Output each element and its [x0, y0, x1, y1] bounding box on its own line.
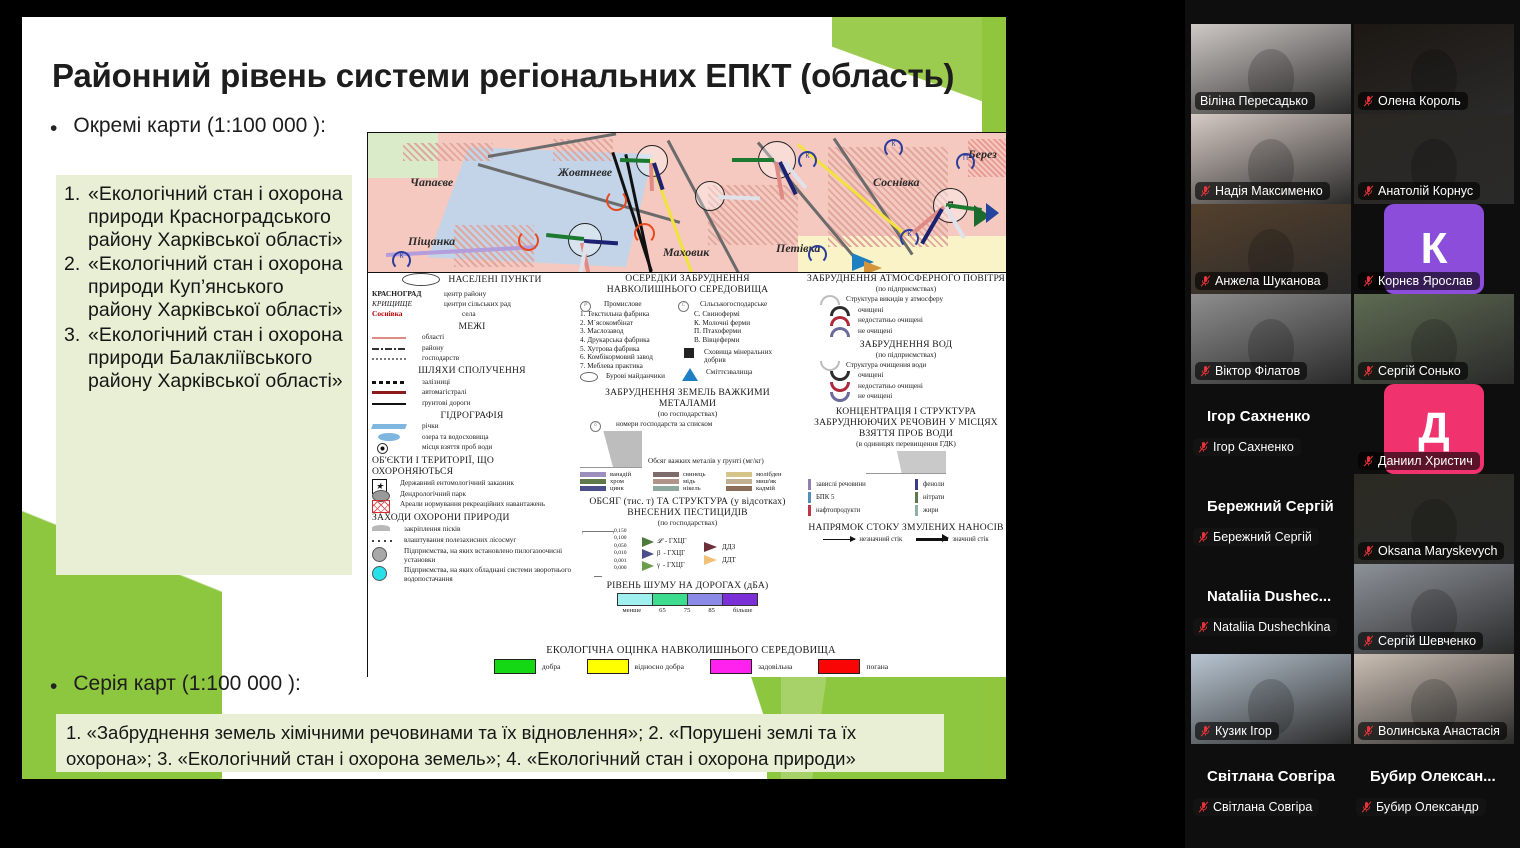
bullet-marker-icon: • — [50, 672, 57, 697]
eco-label: погана — [866, 662, 888, 671]
map-blue-marker: С — [808, 245, 827, 264]
microphone-muted-icon — [1200, 365, 1211, 377]
bullet-map-series: • Серія карт (1:100 000 ): — [50, 672, 301, 697]
participant-name-chip: Віктор Філатов — [1195, 362, 1307, 380]
participant-name-chip: Волинська Анастасія — [1358, 722, 1507, 740]
pesticide-scale-value: 0,100 — [614, 535, 627, 542]
meeting-screen: Районний рівень системи регіональних ЕПК… — [0, 0, 1520, 848]
participant-name-chip: Сергій Шевченко — [1358, 632, 1483, 650]
pesticide-scale-value: 0,010 — [614, 550, 627, 557]
legend-metal-name: мідь — [683, 478, 695, 485]
map-place-label: Соснівка — [873, 175, 920, 190]
legend-agro-item: П. Птахоферми — [678, 327, 795, 336]
legend-water-item: не очищені — [858, 392, 892, 401]
legend-hydro-item: озера та водосховища — [422, 433, 489, 442]
legend-value: центр району — [444, 289, 486, 299]
noise-scale-label: 75 — [684, 607, 691, 614]
legend-pesticides-sub: (по господарствах) — [580, 518, 795, 527]
legend-heading-roads: ШЛЯХИ СПОЛУЧЕННЯ — [372, 365, 572, 376]
legend-conc-item: нітрати — [923, 494, 944, 501]
legend-heading-borders: МЕЖІ — [372, 321, 572, 332]
legend-conc-item: феноли — [923, 481, 944, 488]
eco-label: добра — [542, 662, 561, 671]
participant-name-chip: Надія Максименко — [1195, 182, 1330, 200]
pesticide-item: - ГХЦГ — [663, 562, 685, 569]
pesticide-item: - ГХЦГ — [665, 538, 687, 545]
list-item: 3.«Екологічний стан і охорона природи Ба… — [64, 324, 346, 392]
legend-metal-name: кадмій — [756, 485, 775, 492]
participant-name-chip: Сергій Сонько — [1358, 362, 1468, 380]
participant-name: Віктор Філатов — [1215, 364, 1300, 378]
legend-heavy-metals-sub: (по господарствах) — [580, 409, 795, 418]
pesticide-scale-value: 0,050 — [614, 543, 627, 550]
pesticide-item: ДДТ — [722, 556, 736, 564]
participant-tile[interactable]: Сергій Сонько — [1354, 294, 1514, 384]
legend-key: Соснівка — [372, 309, 444, 319]
legend-measure-item: закріплення пісків — [404, 525, 460, 534]
participant-name: Даниил Христич — [1378, 454, 1473, 468]
microphone-muted-icon — [1200, 725, 1211, 737]
participant-tile[interactable]: Сергій Шевченко — [1354, 564, 1514, 654]
participant-name: Ігор Сахненко — [1213, 440, 1294, 454]
legend-industrial-item: 2. М`ясокомбінат — [580, 319, 672, 328]
legend-road-item: залізниці — [422, 378, 450, 387]
map-blue-marker: К — [884, 139, 903, 158]
legend-hydro-item: місця взяття проб води — [422, 443, 492, 452]
participant-name: Сергій Сонько — [1378, 364, 1461, 378]
participant-tile[interactable]: Надія Максименко — [1191, 114, 1351, 204]
participant-name-chip: Бережний Сергій — [1193, 528, 1319, 546]
participant-name-chip: Корнєв Ярослав — [1358, 272, 1480, 290]
legend-metal-name: нікель — [683, 485, 701, 492]
map-place-label: Піщанка — [408, 234, 455, 249]
eco-label: задовільна — [758, 662, 792, 671]
legend-water-sub: (по підприємствах) — [800, 350, 1006, 359]
bullet-map-series-label: Серія карт (1:100 000 ): — [73, 672, 300, 696]
legend-agro-item: В. Вівцеферми — [678, 336, 795, 345]
legend-metal-name: свинець — [683, 471, 706, 478]
participant-name-large: Світлана Совгіра — [1207, 768, 1335, 785]
legend-conc-item: БПК 5 — [816, 494, 834, 501]
legend-road-item: ґрунтові дороги — [422, 399, 471, 408]
legend-border-item: господарств — [422, 354, 459, 363]
legend-conc-item: жири — [923, 507, 938, 514]
legend-runoff-item: незначний стік — [859, 536, 902, 543]
map-wedge — [986, 203, 999, 223]
list-item-text: «Екологічний стан і охорона природи Крас… — [88, 183, 346, 251]
legend-air-sub: (по підприємствах) — [800, 284, 1006, 293]
legend-industrial-item: 6. Комбікормовий завод — [580, 353, 672, 362]
map-blue-marker: К — [392, 251, 411, 270]
presentation-slide: Районний рівень системи регіональних ЕПК… — [22, 17, 1006, 779]
microphone-muted-icon — [1363, 635, 1374, 647]
legend-conc-item: завислі речовини — [816, 481, 866, 488]
legend-heading-pesticides: ОБСЯГ (тис. т) ТА СТРУКТУРА (у відсотках… — [580, 496, 795, 518]
legend-hydro-item: річки — [422, 422, 439, 431]
list-item-number: 1. — [64, 183, 88, 251]
participant-tile[interactable]: Віктор Філатов — [1191, 294, 1351, 384]
microphone-muted-icon — [1198, 441, 1209, 453]
participant-name: Кузик Ігор — [1215, 724, 1272, 738]
map-legend: НАСЕЛЕНІ ПУНКТИ КРАСНОГРАДцентр району К… — [368, 273, 1006, 677]
map-orange-marker — [606, 190, 627, 211]
list-item-text: «Екологічний стан і охорона природи Куп’… — [88, 253, 346, 321]
legend-metal-name: хром — [610, 478, 624, 485]
microphone-muted-icon — [1363, 275, 1374, 287]
participant-name: Oksana Maryskevych — [1378, 544, 1497, 558]
map-series-listbox: 1. «Забруднення земель хімічними речовин… — [56, 714, 944, 772]
legend-protected-item: Ареали нормування рекреаційних навантаже… — [400, 500, 545, 509]
participant-name: Сергій Шевченко — [1378, 634, 1476, 648]
legend-heading-air: ЗАБРУДНЕННЯ АТМОСФЕРНОГО ПОВІТРЯ — [800, 273, 1006, 284]
participant-name-chip: Oksana Maryskevych — [1358, 542, 1504, 560]
legend-heading-settlements: НАСЕЛЕНІ ПУНКТИ — [448, 274, 541, 285]
participant-tile[interactable]: ДДаниил Христич — [1354, 384, 1514, 474]
legend-metal-name: миш'як — [756, 478, 776, 485]
participant-name: Волинська Анастасія — [1378, 724, 1500, 738]
participant-name: Світлана Совгіра — [1213, 800, 1312, 814]
participant-tile[interactable]: Анатолій Корнус — [1354, 114, 1514, 204]
legend-heading-measures: ЗАХОДИ ОХОРОНИ ПРИРОДИ — [372, 512, 572, 523]
pesticide-scale-value: 0,001 — [614, 558, 627, 565]
legend-water-item: недостатньо очищені — [858, 382, 923, 391]
map-blue-marker: К — [798, 151, 817, 170]
participant-tile[interactable]: Анжела Шуканова — [1191, 204, 1351, 294]
bullet-separate-maps-label: Окремі карти (1:100 000 ): — [73, 114, 326, 138]
legend-measure-item: Підприємства, на яких обладнані системи … — [404, 566, 572, 583]
legend-runoff-item: значний стік — [952, 536, 988, 543]
legend-industrial-label: Промислове — [604, 300, 642, 309]
map-series-line-2: охорона»; 3. «Екологічний стан і охорона… — [66, 746, 934, 772]
legend-air-structure: Структура викидів у атмосферу — [846, 295, 943, 304]
participant-name-chip: Nataliia Dushechkina — [1193, 618, 1337, 636]
participant-name-large: Ігор Сахненко — [1207, 408, 1310, 425]
legend-industrial-item: 1. Текстильна фабрика — [580, 310, 672, 319]
legend-value: села — [444, 309, 476, 319]
legend-key: КРИЩИЩЕ — [372, 299, 444, 309]
legend-industrial-item: 5. Хутрова фабрика — [580, 345, 672, 354]
participant-name-large: Бережний Сергій — [1207, 498, 1334, 515]
noise-scale-label: 85 — [708, 607, 715, 614]
microphone-muted-icon — [1363, 95, 1374, 107]
map-canvas: Чапаєве Жовтневе Піщанка Маховик Петівка… — [368, 133, 1006, 273]
participant-name-chip: Олена Король — [1358, 92, 1468, 110]
map-orange-marker — [634, 223, 655, 244]
participant-tile[interactable]: Олена Король — [1354, 24, 1514, 114]
list-item-number: 2. — [64, 253, 88, 321]
list-item: 2.«Екологічний стан і охорона природи Ку… — [64, 253, 346, 321]
legend-protected-item: Дендрологічний парк — [400, 490, 466, 499]
participant-name: Корнєв Ярослав — [1378, 274, 1473, 288]
legend-measure-item: Підприємства, на яких встановлено пилога… — [404, 547, 572, 564]
participant-name: Надія Максименко — [1215, 184, 1323, 198]
map-hatch-area — [403, 143, 493, 161]
legend-water-item: очищені — [858, 371, 883, 380]
legend-heading-pollution-sources: ОСЕРЕДКИ ЗАБРУДНЕННЯ НАВКОЛИШНЬОГО СЕРЕД… — [580, 273, 795, 295]
legend-fertilizer-label: Сховища мінеральних добрив — [704, 348, 795, 365]
legend-metals-volume: Обсяг важких металів у ґрунті (мг/кг) — [648, 457, 764, 468]
legend-agro-item: С. Свинофермі — [678, 310, 795, 319]
legend-heading-noise: РІВЕНЬ ШУМУ НА ДОРОГАХ (дБА) — [580, 580, 795, 591]
microphone-muted-icon — [1363, 545, 1374, 557]
legend-heading-concentration: КОНЦЕНТРАЦІЯ І СТРУКТУРА ЗАБРУДНЮЮЧИХ РЕ… — [800, 406, 1006, 439]
map-wedge — [864, 261, 882, 273]
eco-label: відносно добра — [635, 662, 684, 671]
pesticide-scale-value: 0,150 — [614, 528, 627, 535]
legend-measure-item: влаштування полезахисних лісосмуг — [404, 536, 516, 545]
legend-protected-item: Державний ентомологічний заказник — [400, 479, 514, 488]
participant-tile[interactable]: Віліна Пересадько — [1191, 24, 1351, 114]
legend-heading-runoff: НАПРЯМОК СТОКУ ЗМУЛЕНИХ НАНОСІВ — [800, 522, 1006, 533]
noise-scale-label: більше — [733, 607, 753, 614]
legend-air-item: недостатньо очищені — [858, 316, 923, 325]
participant-name-chip: Анатолій Корнус — [1358, 182, 1480, 200]
participant-name: Бережний Сергій — [1213, 530, 1312, 544]
participant-tile[interactable]: ККорнєв Ярослав — [1354, 204, 1514, 294]
participant-name: Анжела Шуканова — [1215, 274, 1321, 288]
participant-name: Бубир Олександр — [1376, 800, 1479, 814]
map-orange-marker — [518, 230, 539, 251]
map-place-label: Чапаєве — [410, 175, 453, 190]
legend-heading-eco-assessment: ЕКОЛОГІЧНА ОЦІНКА НАВКОЛИШНЬОГО СЕРЕДОВИ… — [368, 645, 1006, 656]
legend-industrial-item: 3. Маслозавод — [580, 327, 672, 336]
list-item-text: «Екологічний стан і охорона природи Бала… — [88, 324, 346, 392]
participant-name-chip: Ігор Сахненко — [1193, 438, 1301, 456]
participant-name-chip: Віліна Пересадько — [1195, 92, 1315, 110]
microphone-muted-icon — [1363, 725, 1374, 737]
legend-conc-item: нафтопродукти — [816, 507, 860, 514]
settlement-symbol-icon — [402, 273, 440, 286]
participant-tile[interactable]: Oksana Maryskevych — [1354, 474, 1514, 564]
legend-drill-label: Бурові майданчики — [606, 372, 665, 381]
separate-maps-listbox: 1.«Екологічний стан і охорона природи Кр… — [56, 175, 352, 575]
participant-name-chip: Анжела Шуканова — [1195, 272, 1328, 290]
microphone-muted-icon — [1363, 185, 1374, 197]
participant-tile[interactable]: Волинська Анастасія — [1354, 654, 1514, 744]
microphone-muted-icon — [1363, 455, 1374, 467]
participants-rail[interactable]: Віліна ПересадькоОлена КорольНадія Макси… — [1185, 0, 1520, 848]
microphone-muted-icon — [1198, 801, 1209, 813]
microphone-muted-icon — [1198, 621, 1209, 633]
participant-tile[interactable]: Кузик Ігор — [1191, 654, 1351, 744]
legend-water-structure: Структура очищення води — [846, 361, 926, 370]
pesticide-scale-value: 0,000 — [614, 565, 627, 572]
map-series-line-1: 1. «Забруднення земель хімічними речовин… — [66, 720, 934, 746]
map-figure: Чапаєве Жовтневе Піщанка Маховик Петівка… — [367, 132, 1006, 677]
participant-name-chip: Бубир Олександр — [1356, 798, 1486, 816]
bullet-separate-maps: • Окремі карти (1:100 000 ): — [50, 114, 326, 139]
eco-swatch — [818, 659, 860, 674]
noise-scale-label: 65 — [659, 607, 666, 614]
legend-agro-item: К. Молочні ферми — [678, 319, 795, 328]
legend-border-item: області — [422, 333, 444, 342]
map-place-label: Жовтневе — [558, 165, 612, 180]
pesticide-item: ДДЗ — [722, 543, 735, 551]
map-place-label: Маховик — [663, 245, 709, 260]
eco-swatch — [710, 659, 752, 674]
bullet-marker-icon: • — [50, 114, 57, 139]
legend-metal-name: молібден — [756, 471, 782, 478]
participant-name-chip: Кузик Ігор — [1195, 722, 1279, 740]
eco-swatch — [587, 659, 629, 674]
legend-border-item: району — [422, 344, 444, 353]
legend-road-item: автомагістралі — [422, 388, 466, 397]
map-ray — [732, 158, 774, 162]
participant-name-large: Бубир Олексан... — [1370, 768, 1496, 785]
map-blue-marker: П — [956, 153, 975, 172]
legend-industrial-item: 4. Друкарська фабрика — [580, 336, 672, 345]
participant-name: Олена Король — [1378, 94, 1461, 108]
participant-name: Nataliia Dushechkina — [1213, 620, 1330, 634]
microphone-muted-icon — [1200, 185, 1211, 197]
legend-value: центри сільських рад — [444, 299, 511, 309]
legend-metal-name: цинк — [610, 485, 624, 492]
legend-farm-numbers: номери господарств за списком — [616, 420, 712, 429]
legend-air-item: очищені — [858, 306, 883, 315]
legend-heading-hydro: ГІДРОГРАФІЯ — [372, 410, 572, 421]
microphone-muted-icon — [1361, 801, 1372, 813]
slide-title: Районний рівень системи регіональних ЕПК… — [52, 57, 982, 95]
noise-scale-label: менше — [623, 607, 642, 614]
shared-screen-stage[interactable]: Районний рівень системи регіональних ЕПК… — [0, 0, 1185, 848]
microphone-muted-icon — [1198, 531, 1209, 543]
legend-heading-heavy-metals: ЗАБРУДНЕННЯ ЗЕМЕЛЬ ВАЖКИМИ МЕТАЛАМИ — [580, 387, 795, 409]
list-item: 1.«Екологічний стан і охорона природи Кр… — [64, 183, 346, 251]
legend-key: КРАСНОГРАД — [372, 289, 444, 299]
microphone-muted-icon — [1200, 275, 1211, 287]
microphone-muted-icon — [1363, 365, 1374, 377]
legend-heading-water: ЗАБРУДНЕННЯ ВОД — [800, 339, 1006, 350]
participant-name-large: Nataliia Dushec... — [1207, 588, 1331, 605]
legend-industrial-item: 7. Меблева практика — [580, 362, 672, 371]
legend-metal-name: ванадій — [610, 471, 631, 478]
participant-name: Анатолій Корнус — [1378, 184, 1473, 198]
legend-dump-label: Сміттєзвалища — [706, 368, 752, 377]
participant-name-chip: Світлана Совгіра — [1193, 798, 1319, 816]
participant-name-chip: Даниил Христич — [1358, 452, 1480, 470]
legend-agricultural-label: Сільськогосподарське — [700, 300, 767, 309]
legend-concentration-sub: (в одиницях перевищення ГДК) — [800, 439, 1006, 448]
eco-swatch — [494, 659, 536, 674]
list-item-number: 3. — [64, 324, 88, 392]
pesticide-item: - ГХЦГ — [663, 550, 685, 557]
participant-name: Віліна Пересадько — [1200, 94, 1308, 108]
legend-heading-protected: ОБ'ЄКТИ І ТЕРИТОРІЇ, ЩО ОХОРОНЯЮТЬСЯ — [372, 455, 572, 477]
legend-air-item: не очищені — [858, 327, 892, 336]
